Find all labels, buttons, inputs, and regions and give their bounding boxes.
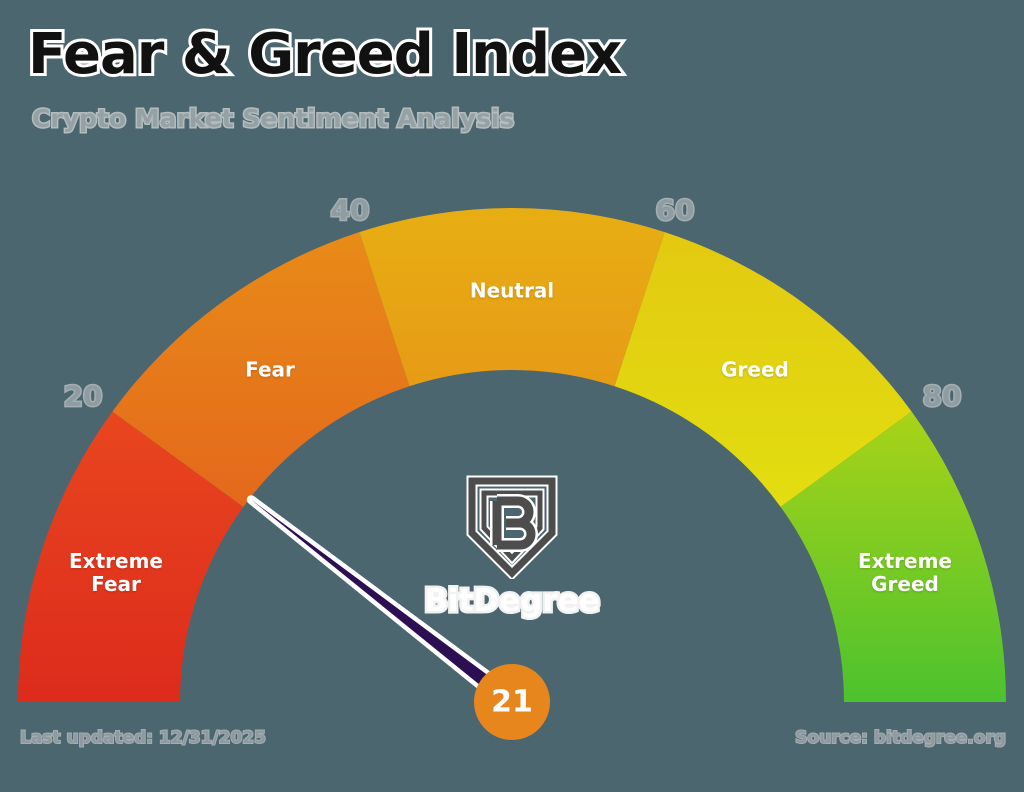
needle-hub (474, 664, 550, 740)
needle-body (251, 500, 516, 708)
fear-greed-index-infographic: Fear & Greed Index Crypto Market Sentime… (0, 0, 1024, 792)
tick-label-40: 40 (331, 194, 370, 227)
tick-label-80: 80 (923, 380, 962, 413)
gauge-chart (0, 0, 1024, 792)
source-text: Source: bitdegree.org (795, 728, 1006, 748)
gauge-segment-neutral (359, 208, 664, 386)
tick-label-60: 60 (656, 194, 695, 227)
last-updated-text: Last updated: 12/31/2025 (20, 728, 266, 748)
gauge-segments (18, 208, 1006, 702)
gauge-needle (251, 500, 550, 740)
tick-label-20: 20 (64, 380, 103, 413)
